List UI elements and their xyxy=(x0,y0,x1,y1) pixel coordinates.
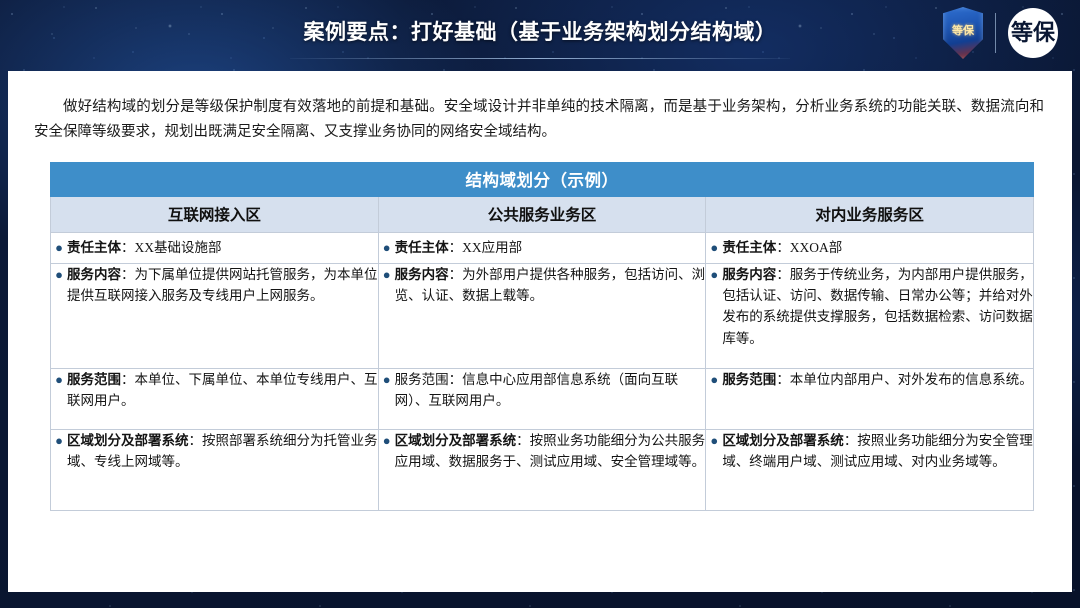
shield-logo-label: 等保 xyxy=(952,26,974,37)
cell-service-content-col2: ● 服务内容：为外部用户提供各种服务，包括访问、浏览、认证、数据上载等。 xyxy=(378,263,706,368)
cell-label: 责任主体 xyxy=(722,240,776,255)
cell-responsible-col1: ● 责任主体：XX基础设施部 xyxy=(51,232,379,263)
cell-label: 服务内容 xyxy=(395,267,449,282)
column-header-public-service: 公共服务业务区 xyxy=(378,196,706,232)
cell-text: 区域划分及部署系统：按照业务功能细分为安全管理域、终端用户域、测试应用域、对内业… xyxy=(722,430,1033,473)
table-row: ● 责任主体：XX基础设施部 ● 责任主体：XX应用部 xyxy=(51,232,1034,263)
cell-text: 服务内容：为外部用户提供各种服务，包括访问、浏览、认证、数据上载等。 xyxy=(395,264,706,307)
cell-service-scope-col1: ● 服务范围：本单位、下属单位、本单位专线用户、互联网用户。 xyxy=(51,368,379,429)
cell-text: 服务内容：服务于传统业务，为内部用户提供服务，包括认证、访问、数据传输、日常办公… xyxy=(722,264,1033,349)
cell-body: ：XX基础设施部 xyxy=(121,240,222,255)
bullet-point-icon: ● xyxy=(706,369,722,391)
table-title-row: 结构域划分（示例） xyxy=(51,162,1034,196)
cell-label: 服务范围 xyxy=(395,372,449,387)
cell-zone-deploy-col1: ● 区域划分及部署系统：按照部署系统细分为托管业务域、专线上网域等。 xyxy=(51,429,379,510)
cell-label: 服务内容 xyxy=(722,267,776,282)
bullet-point-icon: ● xyxy=(51,237,67,259)
column-header-internet-access: 互联网接入区 xyxy=(51,196,379,232)
cell-label: 责任主体 xyxy=(67,240,121,255)
title-underline-rule xyxy=(290,58,790,59)
cell-text: 区域划分及部署系统：按照业务功能细分为公共服务应用域、数据服务于、测试应用域、安… xyxy=(395,430,706,473)
bullet-point-icon: ● xyxy=(379,430,395,452)
column-header-internal-service: 对内业务服务区 xyxy=(706,196,1034,232)
zones-table: 结构域划分（示例） 互联网接入区 公共服务业务区 对内业务服务区 ● 责任主体：… xyxy=(50,162,1034,511)
table-row: ● 区域划分及部署系统：按照部署系统细分为托管业务域、专线上网域等。 ● 区域划… xyxy=(51,429,1034,510)
cell-text: 服务范围：本单位内部用户、对外发布的信息系统。 xyxy=(722,369,1033,390)
cell-body: ：XXOA部 xyxy=(776,240,842,255)
cell-label: 区域划分及部署系统 xyxy=(395,433,517,448)
bullet-point-icon: ● xyxy=(379,264,395,286)
slide-root: 案例要点：打好基础（基于业务架构划分结构域） 等保 等保 做好结构域的划分是等级… xyxy=(0,0,1080,608)
bullet-point-icon: ● xyxy=(706,430,722,452)
cell-responsible-col2: ● 责任主体：XX应用部 xyxy=(378,232,706,263)
content-panel: 做好结构域的划分是等级保护制度有效落地的前提和基础。安全域设计并非单纯的技术隔离… xyxy=(8,71,1072,592)
zones-table-wrapper: 结构域划分（示例） 互联网接入区 公共服务业务区 对内业务服务区 ● 责任主体：… xyxy=(50,162,1034,511)
bullet-point-icon: ● xyxy=(51,369,67,391)
cell-label: 区域划分及部署系统 xyxy=(67,433,189,448)
cell-responsible-col3: ● 责任主体：XXOA部 xyxy=(706,232,1034,263)
shield-logo-icon: 等保 xyxy=(943,7,983,59)
table-row: ● 服务范围：本单位、下属单位、本单位专线用户、互联网用户。 ● 服务范围：信息… xyxy=(51,368,1034,429)
slide-title-bar: 案例要点：打好基础（基于业务架构划分结构域） 等保 等保 xyxy=(0,0,1080,68)
cell-text: 责任主体：XX应用部 xyxy=(395,237,706,258)
bullet-point-icon: ● xyxy=(51,430,67,452)
cell-zone-deploy-col3: ● 区域划分及部署系统：按照业务功能细分为安全管理域、终端用户域、测试应用域、对… xyxy=(706,429,1034,510)
bullet-point-icon: ● xyxy=(379,237,395,259)
cell-service-content-col3: ● 服务内容：服务于传统业务，为内部用户提供服务，包括认证、访问、数据传输、日常… xyxy=(706,263,1034,368)
cell-text: 服务内容：为下属单位提供网站托管服务，为本单位提供互联网接入服务及专线用户上网服… xyxy=(67,264,378,307)
cell-body: ：XX应用部 xyxy=(449,240,523,255)
cell-label: 服务范围 xyxy=(67,372,121,387)
table-title-cell: 结构域划分（示例） xyxy=(51,162,1034,196)
table-header-row: 互联网接入区 公共服务业务区 对内业务服务区 xyxy=(51,196,1034,232)
intro-paragraph: 做好结构域的划分是等级保护制度有效落地的前提和基础。安全域设计并非单纯的技术隔离… xyxy=(8,71,1072,146)
cell-body: ：本单位内部用户、对外发布的信息系统。 xyxy=(776,372,1033,387)
logo-group: 等保 等保 xyxy=(943,2,1058,64)
cell-label: 服务范围 xyxy=(722,372,776,387)
cell-text: 服务范围：信息中心应用部信息系统（面向互联网）、互联网用户。 xyxy=(395,369,706,412)
cell-zone-deploy-col2: ● 区域划分及部署系统：按照业务功能细分为公共服务应用域、数据服务于、测试应用域… xyxy=(378,429,706,510)
page-title: 案例要点：打好基础（基于业务架构划分结构域） xyxy=(0,16,1080,46)
bullet-point-icon: ● xyxy=(379,369,395,391)
bullet-point-icon: ● xyxy=(706,237,722,259)
table-row: ● 服务内容：为下属单位提供网站托管服务，为本单位提供互联网接入服务及专线用户上… xyxy=(51,263,1034,368)
cell-text: 责任主体：XXOA部 xyxy=(722,237,1033,258)
cell-service-content-col1: ● 服务内容：为下属单位提供网站托管服务，为本单位提供互联网接入服务及专线用户上… xyxy=(51,263,379,368)
cell-service-scope-col2: ● 服务范围：信息中心应用部信息系统（面向互联网）、互联网用户。 xyxy=(378,368,706,429)
cell-service-scope-col3: ● 服务范围：本单位内部用户、对外发布的信息系统。 xyxy=(706,368,1034,429)
zones-table-body: 结构域划分（示例） 互联网接入区 公共服务业务区 对内业务服务区 ● 责任主体：… xyxy=(51,162,1034,510)
cell-text: 责任主体：XX基础设施部 xyxy=(67,237,378,258)
round-emblem-icon: 等保 xyxy=(1008,8,1058,58)
bullet-point-icon: ● xyxy=(706,264,722,286)
cell-label: 服务内容 xyxy=(67,267,121,282)
round-emblem-label: 等保 xyxy=(1011,22,1055,44)
cell-label: 区域划分及部署系统 xyxy=(722,433,844,448)
cell-label: 责任主体 xyxy=(395,240,449,255)
cell-text: 服务范围：本单位、下属单位、本单位专线用户、互联网用户。 xyxy=(67,369,378,412)
bullet-point-icon: ● xyxy=(51,264,67,286)
cell-text: 区域划分及部署系统：按照部署系统细分为托管业务域、专线上网域等。 xyxy=(67,430,378,473)
logo-divider xyxy=(995,13,996,53)
